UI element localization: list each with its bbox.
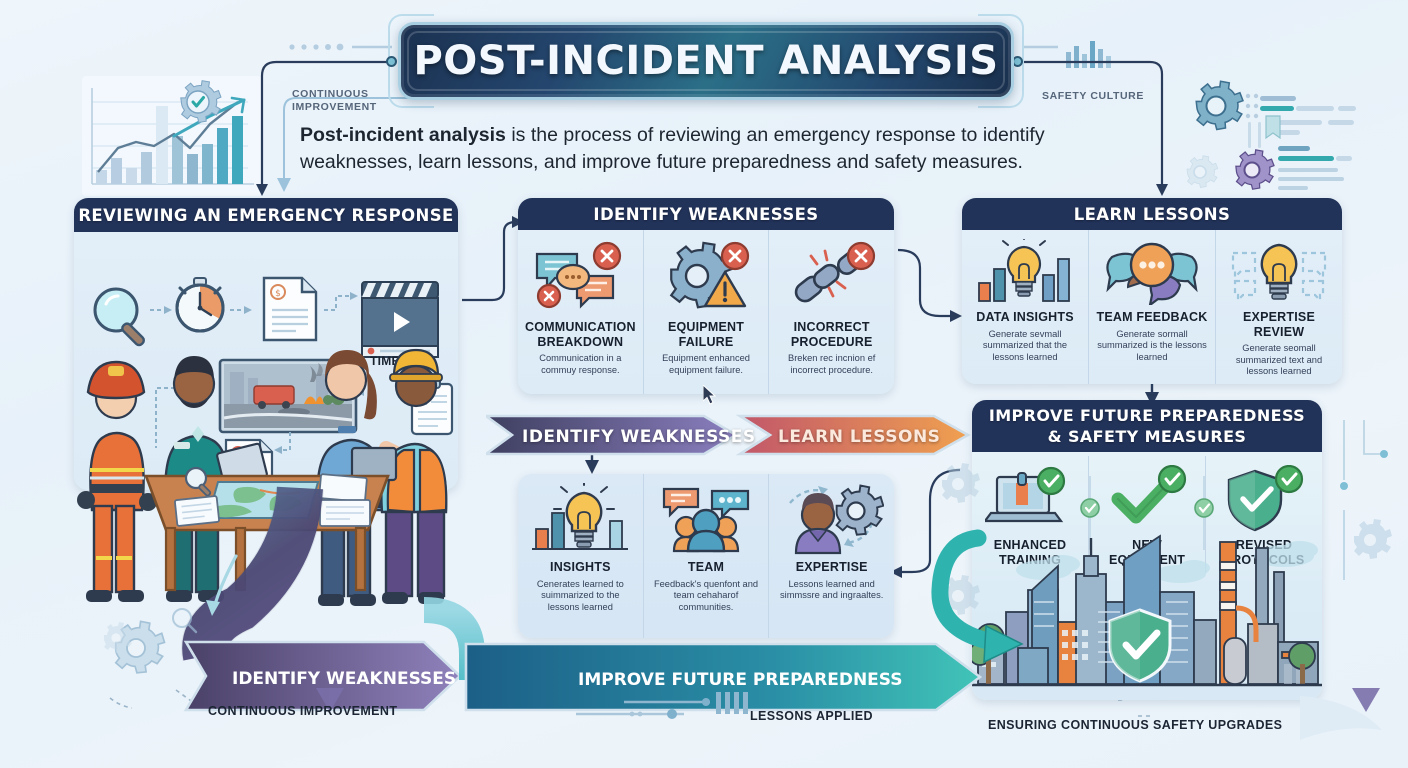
mouse-cursor <box>703 385 719 407</box>
card-desc: Generate sevmall summarized that the les… <box>966 329 1084 364</box>
svg-text:$: $ <box>275 289 281 299</box>
speech-bubbles-error-icon <box>529 238 631 316</box>
card-title: TEAM FEEDBACK <box>1097 310 1208 325</box>
infographic-canvas: POST-INCIDENT ANALYSIS Post-incident ana… <box>0 0 1408 768</box>
stopwatch-icon <box>177 278 223 331</box>
caption-lessons-applied: LESSONS APPLIED <box>750 709 873 723</box>
card-desc: Equipment enhanced equipment failure. <box>648 353 765 376</box>
subtitle-bold: Post-incident analysis <box>300 124 506 146</box>
card-communication-breakdown[interactable]: COMMUNICATION BREAKDOWN Communication in… <box>518 230 643 394</box>
panel-identify-title: IDENTIFY WEAKNESSES <box>518 198 894 230</box>
arrow-label-bottom-improve: IMPROVE FUTURE PREPAREDNESS <box>578 670 903 690</box>
arrow-label-bottom-identify: IDENTIFY WEAKNESSES <box>232 669 456 689</box>
panel-improve-title-line1: IMPROVE FUTURE PREPAREDNESS <box>989 405 1305 426</box>
card-incorrect-procedure[interactable]: INCORRECT PROCEDURE Breken rec incnion e… <box>768 230 894 394</box>
card-title: DATA INSIGHTS <box>976 310 1074 325</box>
card-title: COMMUNICATION BREAKDOWN <box>522 320 639 349</box>
card-desc: Breken rec incnion ef incorrect procedur… <box>773 353 890 376</box>
page-title-banner: POST-INCIDENT ANALYSIS <box>398 22 1014 100</box>
card-desc: Generate seomall summarized text and les… <box>1220 343 1338 378</box>
banner-node-left-icon <box>386 56 397 67</box>
card-title: INCORRECT PROCEDURE <box>773 320 890 349</box>
panel-reviewing-title: REVIEWING AN EMERGENCY RESPONSE <box>74 198 458 232</box>
bottom-slider-decor <box>576 692 776 726</box>
bottom-right-swoosh-decor <box>1300 690 1408 768</box>
card-equipment-failure[interactable]: EQUIPMENT FAILURE Equipment enhanced equ… <box>643 230 769 394</box>
lightbulb-review-icon <box>1227 238 1331 306</box>
page-subtitle: Post-incident analysis is the process of… <box>300 122 1160 176</box>
panel-learn-title: LEARN LESSONS <box>962 198 1342 230</box>
card-desc: Generate sormall summarized is the lesso… <box>1093 329 1211 364</box>
card-data-insights[interactable]: DATA INSIGHTS Generate sevmall summarize… <box>962 230 1088 384</box>
tag-continuous-improvement: CONTINUOUS IMPROVEMENT <box>292 88 412 114</box>
caption-continuous-improvement: CONTINUOUS IMPROVEMENT <box>208 704 397 718</box>
speech-bubble-dots-icon <box>1100 238 1204 306</box>
card-title: EQUIPMENT FAILURE <box>648 320 765 349</box>
card-desc: Communication in a commuy response. <box>522 353 639 376</box>
panel-identify-weaknesses: IDENTIFY WEAKNESSES <box>518 198 894 394</box>
panel-learn-lessons: LEARN LESSONS <box>962 198 1342 384</box>
page-title: POST-INCIDENT ANALYSIS <box>413 38 998 84</box>
card-team-feedback[interactable]: TEAM FEEDBACK Generate sormall summarize… <box>1088 230 1215 384</box>
broken-chain-icon <box>781 238 883 316</box>
card-expertise-review[interactable]: EXPERTISE REVIEW Generate seomall summar… <box>1215 230 1342 384</box>
bottom-left-decor-icons <box>104 600 214 680</box>
tag-safety-culture: SAFETY CULTURE <box>1042 90 1144 103</box>
gear-warning-icon <box>655 238 757 316</box>
card-title: EXPERTISE REVIEW <box>1220 310 1338 339</box>
caption-ensuring-upgrades: ENSURING CONTINUOUS SAFETY UPGRADES <box>988 718 1282 732</box>
lightbulb-chart-icon <box>973 238 1077 306</box>
